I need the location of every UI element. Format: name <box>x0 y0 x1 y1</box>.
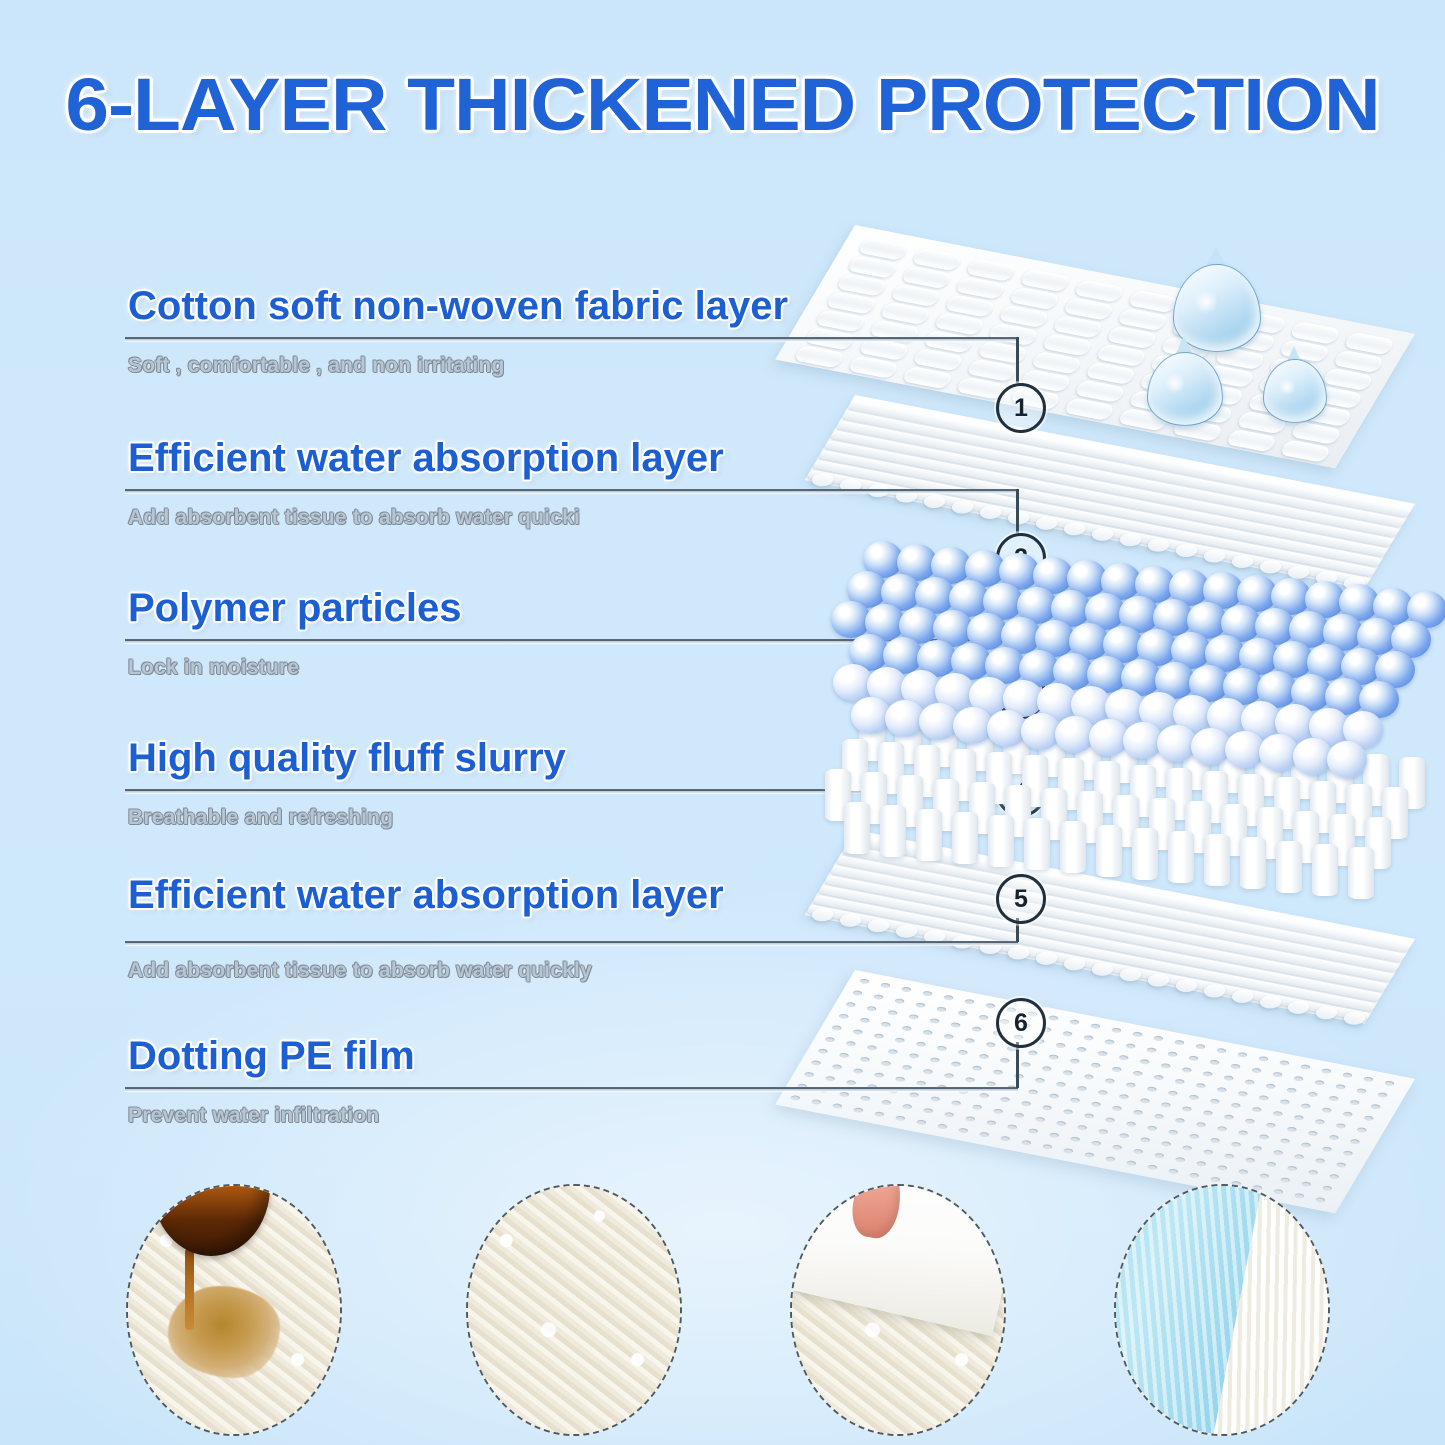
pe-film-perforation <box>1321 1107 1333 1113</box>
water-drop-body <box>1147 352 1223 426</box>
pe-film-perforation <box>1125 1082 1137 1088</box>
pe-film-perforation <box>1174 1039 1186 1045</box>
pe-film-perforation <box>1181 1106 1193 1112</box>
pe-film-perforation <box>1132 1070 1144 1076</box>
pe-film-perforation <box>1223 1075 1235 1081</box>
layer-5-title: Efficient water absorption layer <box>128 873 724 918</box>
fluff-fiber <box>1096 825 1122 877</box>
pe-film-perforation <box>1342 1072 1354 1078</box>
layer-6-rule <box>125 1087 1018 1091</box>
pe-film-perforation <box>1195 1161 1207 1167</box>
pe-film-perforation <box>1027 1089 1039 1095</box>
pe-film-perforation <box>1216 1087 1228 1093</box>
pe-film-perforation <box>1272 1072 1284 1078</box>
water-drop <box>1263 343 1325 431</box>
water-drop-highlight <box>1164 374 1186 393</box>
pe-film-perforation <box>1006 1124 1018 1130</box>
pe-film-perforation <box>957 1049 969 1055</box>
pe-film-perforation <box>901 1104 913 1110</box>
pe-film-perforation <box>894 998 906 1004</box>
pe-film-perforation <box>1083 1074 1095 1080</box>
pe-film-perforation <box>1069 1136 1081 1142</box>
pe-film-perforation <box>859 1056 871 1062</box>
pe-film-perforation <box>1041 1144 1053 1150</box>
pe-film-perforation <box>1062 1070 1074 1076</box>
pe-film-perforation <box>1055 1120 1067 1126</box>
pe-film-perforation <box>859 1017 871 1023</box>
pe-film-perforation <box>1090 1062 1102 1068</box>
pe-film-perforation <box>915 1002 927 1008</box>
pe-film-perforation <box>1244 1079 1256 1085</box>
pe-film-perforation <box>1146 1086 1158 1092</box>
pe-film-perforation <box>1104 1117 1116 1123</box>
pe-film-perforation <box>971 1104 983 1110</box>
pe-film-perforation <box>1041 1066 1053 1072</box>
pe-film-perforation <box>1258 1134 1270 1140</box>
pe-film-perforation <box>831 1025 843 1031</box>
pe-film-perforation <box>1097 1051 1109 1057</box>
pe-film-perforation <box>1335 1084 1347 1090</box>
pe-film-perforation <box>943 1073 955 1079</box>
pe-film-perforation <box>1076 1085 1088 1091</box>
pe-film-perforation <box>1111 1027 1123 1033</box>
pe-film-perforation <box>873 994 885 1000</box>
pe-film-perforation <box>1027 1050 1039 1056</box>
pe-film-perforation <box>1279 1060 1291 1066</box>
pe-film-perforation <box>1083 1152 1095 1158</box>
pe-film-perforation <box>908 1014 920 1020</box>
pe-film-perforation <box>992 1069 1004 1075</box>
pe-film-perforation <box>1230 1063 1242 1069</box>
pe-film-perforation <box>1090 1023 1102 1029</box>
pe-film-perforation <box>894 1037 906 1043</box>
pe-film-perforation <box>1174 1079 1186 1085</box>
pe-film-perforation <box>936 1006 948 1012</box>
layer-1-rule <box>125 337 1018 341</box>
pe-film-perforation <box>1132 1148 1144 1154</box>
pe-film-perforation <box>810 1060 822 1066</box>
pe-film-perforation <box>1090 1101 1102 1107</box>
pe-film-perforation <box>1160 1063 1172 1069</box>
fluff-fiber <box>952 812 978 864</box>
pe-film-perforation <box>957 1127 969 1133</box>
pe-film-perforation <box>922 1069 934 1075</box>
pe-film-perforation <box>852 1068 864 1074</box>
pe-film-perforation <box>1363 1076 1375 1082</box>
water-drop-body <box>1263 359 1327 423</box>
water-drop-highlight <box>1193 291 1219 313</box>
pe-film-perforation <box>1342 1150 1354 1156</box>
pe-film-perforation <box>936 1045 948 1051</box>
pe-film-perforation <box>1153 1113 1165 1119</box>
pe-film-perforation <box>999 1097 1011 1103</box>
pe-film-perforation <box>999 1136 1011 1142</box>
pe-film-perforation <box>929 1057 941 1063</box>
layer-4-title: High quality fluff slurry <box>128 736 566 781</box>
pe-film-perforation <box>1062 1031 1074 1037</box>
pe-film-perforation <box>1097 1129 1109 1135</box>
pe-film-perforation <box>1307 1091 1319 1097</box>
pe-film-perforation <box>1209 1137 1221 1143</box>
pe-film-perforation <box>1251 1106 1263 1112</box>
pe-film-perforation <box>1377 1092 1389 1098</box>
pe-film-perforation <box>1356 1127 1368 1133</box>
pe-film-perforation <box>1328 1095 1340 1101</box>
pe-film-perforation <box>852 990 864 996</box>
pe-film-perforation <box>845 1002 857 1008</box>
pe-film-perforation <box>908 1092 920 1098</box>
pe-film-perforation <box>943 1034 955 1040</box>
pe-film-perforation <box>971 1065 983 1071</box>
photo-liquid-absorption-test <box>126 1184 342 1436</box>
pe-film-perforation <box>985 1003 997 1009</box>
pe-film-perforation <box>950 1100 962 1106</box>
pe-film-perforation <box>1153 1153 1165 1159</box>
pe-film-perforation <box>1146 1125 1158 1131</box>
pe-film-perforation <box>1097 1090 1109 1096</box>
pe-film-perforation <box>873 1072 885 1078</box>
fluff-fiber <box>1348 847 1374 899</box>
pe-film-perforation <box>1104 1156 1116 1162</box>
fluff-fiber <box>1240 837 1266 889</box>
pe-film-perforation <box>1083 1035 1095 1041</box>
layer-1-title: Cotton soft non-woven fabric layer <box>128 284 788 329</box>
water-drops-group <box>855 225 1445 525</box>
pe-film-perforation <box>1328 1174 1340 1180</box>
photo2-background <box>468 1186 680 1434</box>
pe-film-perforation <box>1034 1116 1046 1122</box>
layer-6-title: Dotting PE film <box>128 1034 415 1079</box>
pe-film-perforation <box>1279 1138 1291 1144</box>
layer-1-subtitle: Soft , comfortable , and non irritating <box>128 354 504 378</box>
pe-film-perforation <box>1237 1169 1249 1175</box>
layer-3-subtitle: Lock in moisture <box>128 656 299 680</box>
polymer-bead-grid <box>855 535 1445 755</box>
layer-stack-illustration <box>855 225 1445 1175</box>
pe-film-perforation <box>1146 1047 1158 1053</box>
layer-1-number-badge: 1 <box>996 383 1046 433</box>
pe-film-perforation <box>1125 1043 1137 1049</box>
fluff-fiber <box>1060 821 1086 873</box>
pe-film-perforation <box>1181 1067 1193 1073</box>
pe-film-perforation <box>1069 1097 1081 1103</box>
pe-film-perforation <box>838 1052 850 1058</box>
fluff-fiber <box>988 815 1014 867</box>
pe-film-perforation <box>852 1107 864 1113</box>
pe-film-perforation <box>1160 1141 1172 1147</box>
pe-film-perforation <box>943 995 955 1001</box>
pe-film-perforation <box>1048 1015 1060 1021</box>
pe-film-perforation <box>1237 1091 1249 1097</box>
pe-film-perforation <box>803 1071 815 1077</box>
fluff-fiber <box>916 809 942 861</box>
pe-film-perforation <box>915 1080 927 1086</box>
pe-film-perforation <box>1104 1078 1116 1084</box>
pe-film-perforation <box>936 1123 948 1129</box>
pe-film-perforation <box>1055 1042 1067 1048</box>
pe-film-perforation <box>1244 1118 1256 1124</box>
layer-2-title: Efficient water absorption layer <box>128 436 724 481</box>
pe-film-perforation <box>1272 1150 1284 1156</box>
pe-film-perforation <box>1062 1109 1074 1115</box>
pe-film-perforation <box>1223 1153 1235 1159</box>
pe-film-perforation <box>985 1042 997 1048</box>
pe-film-perforation <box>1237 1130 1249 1136</box>
pe-film-perforation <box>1020 1140 1032 1146</box>
pe-film-perforation <box>1251 1067 1263 1073</box>
water-drop <box>1147 333 1221 435</box>
pe-film-perforation <box>866 1006 878 1012</box>
pe-film-perforation <box>1118 1133 1130 1139</box>
pe-film-perforation <box>1111 1144 1123 1150</box>
layer-1-connector <box>1016 337 1019 383</box>
pe-film-perforation <box>901 986 913 992</box>
pe-film-perforation <box>894 1115 906 1121</box>
fluff-fiber <box>1024 818 1050 870</box>
pe-film-perforation <box>1265 1122 1277 1128</box>
pe-film-perforation <box>908 1053 920 1059</box>
pe-film-perforation <box>845 1041 857 1047</box>
pe-film-perforation <box>1174 1118 1186 1124</box>
layer-5-number-badge: 5 <box>996 874 1046 924</box>
fluff-fiber <box>1168 831 1194 883</box>
layer-5-subtitle: Add absorbent tissue to absorb water qui… <box>128 959 592 983</box>
pe-film-perforation <box>1349 1100 1361 1106</box>
pe-film-perforation <box>1307 1169 1319 1175</box>
pe-film-perforation <box>1286 1087 1298 1093</box>
pe-film-perforation <box>1258 1056 1270 1062</box>
pe-film-perforation <box>922 990 934 996</box>
pe-film-perforation <box>1083 1113 1095 1119</box>
pe-film-perforation <box>1293 1154 1305 1160</box>
pe-film-perforation <box>1048 1054 1060 1060</box>
pe-film-perforation <box>1216 1126 1228 1132</box>
pe-film-perforation <box>831 1103 843 1109</box>
pe-film-perforation <box>957 1010 969 1016</box>
pe-film-perforation <box>1048 1132 1060 1138</box>
pe-film-perforation <box>1202 1110 1214 1116</box>
pe-film-perforation <box>880 982 892 988</box>
pe-film-perforation <box>1293 1115 1305 1121</box>
pe-film-perforation <box>1209 1059 1221 1065</box>
fluff-fiber <box>844 802 870 854</box>
pe-film-perforation <box>1328 1134 1340 1140</box>
pe-film-perforation <box>1111 1066 1123 1072</box>
layer-2-subtitle: Add absorbent tissue to absorb water qui… <box>128 506 580 530</box>
pe-film-perforation <box>1209 1176 1221 1182</box>
pe-film-perforation <box>1139 1059 1151 1065</box>
pe-film-perforation <box>1314 1080 1326 1086</box>
pe-film-perforation <box>978 1132 990 1138</box>
pe-film-perforation <box>1265 1161 1277 1167</box>
pe-film-perforation <box>1209 1098 1221 1104</box>
layer-2-rule <box>125 489 1018 493</box>
fluff-fiber <box>1132 828 1158 880</box>
pe-film-perforation <box>873 1033 885 1039</box>
pe-film-perforation <box>1335 1123 1347 1129</box>
pe-film-perforation <box>1139 1137 1151 1143</box>
pe-film-perforation <box>929 1018 941 1024</box>
pe-film-perforation <box>845 1080 857 1086</box>
pe-film-perforation <box>1195 1122 1207 1128</box>
pe-film-perforation <box>1300 1103 1312 1109</box>
layer-6-connector <box>1016 1042 1019 1088</box>
layer-2-connector <box>1016 489 1019 533</box>
pe-film-perforation <box>852 1029 864 1035</box>
fluff-fiber <box>880 805 906 857</box>
pe-film-perforation <box>1286 1165 1298 1171</box>
pe-film-perforation <box>964 999 976 1005</box>
pe-film-perforation <box>1258 1095 1270 1101</box>
pe-film-perforation <box>1167 1090 1179 1096</box>
pe-film-perforation <box>1153 1074 1165 1080</box>
layer-4-subtitle: Breathable and refreshing <box>128 806 393 830</box>
pe-film-perforation <box>859 978 871 984</box>
pe-film-perforation <box>1335 1162 1347 1168</box>
pe-film-perforation <box>838 1091 850 1097</box>
pe-film-perforation <box>1090 1140 1102 1146</box>
pe-film-perforation <box>1244 1157 1256 1163</box>
pe-film-perforation <box>1013 1112 1025 1118</box>
pe-film-perforation <box>964 1116 976 1122</box>
pe-film-perforation <box>1167 1129 1179 1135</box>
pe-film-perforation <box>880 1099 892 1105</box>
pe-film-perforation <box>873 1111 885 1117</box>
fluff-fiber <box>1276 841 1302 893</box>
pe-film-perforation <box>789 1095 801 1101</box>
pe-film-perforation <box>978 1092 990 1098</box>
layer-5-rule <box>125 941 1018 945</box>
pe-film-perforation <box>1195 1044 1207 1050</box>
pe-film-perforation <box>1146 1164 1158 1170</box>
pe-film-perforation <box>1111 1105 1123 1111</box>
infographic-page: 6-LAYER THICKENED PROTECTION <box>0 0 1445 1445</box>
pe-film-perforation <box>964 1077 976 1083</box>
pe-film-perforation <box>1356 1088 1368 1094</box>
pe-film-perforation <box>817 1048 829 1054</box>
pe-film-perforation <box>824 1037 836 1043</box>
pe-film-perforation <box>922 1030 934 1036</box>
pe-film-perforation <box>929 1096 941 1102</box>
pe-film-perforation <box>1104 1039 1116 1045</box>
pe-film-perforation <box>1188 1133 1200 1139</box>
pe-film-perforation <box>887 1049 899 1055</box>
water-drop-highlight <box>1278 379 1297 395</box>
pe-film-perforation <box>1349 1139 1361 1145</box>
pe-film-perforation <box>971 1026 983 1032</box>
pe-film-perforation <box>866 1045 878 1051</box>
layer-6-number-badge: 6 <box>996 998 1046 1048</box>
pe-film-perforation <box>1307 1130 1319 1136</box>
pe-film-perforation <box>831 1064 843 1070</box>
pe-film-perforation <box>1069 1019 1081 1025</box>
pe-film-perforation <box>922 1108 934 1114</box>
pe-film-perforation <box>1321 1146 1333 1152</box>
pe-film-perforation <box>1188 1055 1200 1061</box>
pe-film-perforation <box>1384 1080 1396 1086</box>
pe-film-perforation <box>1118 1094 1130 1100</box>
pe-film-perforation <box>1279 1177 1291 1183</box>
pe-film-perforation <box>1188 1094 1200 1100</box>
pe-film-perforation <box>1202 1149 1214 1155</box>
pe-film-perforation <box>1034 1077 1046 1083</box>
photo-dry-fluff-surface <box>466 1184 682 1436</box>
pe-film-perforation <box>894 1076 906 1082</box>
pe-film-perforation <box>1132 1109 1144 1115</box>
pe-film-perforation <box>880 1060 892 1066</box>
pe-film-perforation <box>1153 1035 1165 1041</box>
pe-film-perforation <box>887 1010 899 1016</box>
pe-film-perforation <box>1195 1083 1207 1089</box>
pe-film-perforation <box>810 1099 822 1105</box>
pe-film-perforation <box>1062 1148 1074 1154</box>
pe-film-perforation <box>1216 1165 1228 1171</box>
pe-film-perforation <box>1132 1031 1144 1037</box>
page-title: 6-LAYER THICKENED PROTECTION <box>0 62 1445 147</box>
layer-6-subtitle: Prevent water infiltration <box>128 1104 379 1128</box>
pe-film-perforation <box>985 1120 997 1126</box>
pe-film-perforation <box>1160 1102 1172 1108</box>
pe-film-perforation <box>838 1013 850 1019</box>
pe-film-perforation <box>950 1061 962 1067</box>
pe-film-perforation <box>824 1076 836 1082</box>
pe-film-perforation <box>1314 1119 1326 1125</box>
layer-3-title: Polymer particles <box>128 586 462 631</box>
pe-film-perforation <box>1167 1051 1179 1057</box>
pe-film-perforation <box>950 1022 962 1028</box>
pe-film-perforation <box>978 1014 990 1020</box>
pe-film-perforation <box>978 1053 990 1059</box>
pe-film-perforation <box>1286 1126 1298 1132</box>
photo-blue-backing-edge <box>1114 1184 1330 1436</box>
pe-film-perforation <box>1223 1114 1235 1120</box>
pe-film-perforation <box>1230 1141 1242 1147</box>
pe-film-perforation <box>1055 1081 1067 1087</box>
pe-film-perforation <box>1069 1058 1081 1064</box>
pe-film-perforation <box>1272 1111 1284 1117</box>
photo1-pour-stream <box>185 1248 194 1330</box>
pe-film-perforation <box>1048 1093 1060 1099</box>
pe-film-perforation <box>999 1058 1011 1064</box>
pe-film-perforation <box>964 1038 976 1044</box>
pe-film-perforation <box>1125 1121 1137 1127</box>
pe-film-perforation <box>1265 1083 1277 1089</box>
pe-film-perforation <box>1139 1098 1151 1104</box>
pe-film-perforation <box>1300 1064 1312 1070</box>
pe-film-perforation <box>901 1025 913 1031</box>
pe-film-perforation <box>1258 1173 1270 1179</box>
pe-film-perforation <box>1118 1055 1130 1061</box>
pe-film-perforation <box>1020 1101 1032 1107</box>
pe-film-perforation <box>1314 1158 1326 1164</box>
pe-film-perforation <box>1363 1115 1375 1121</box>
pe-film-perforation <box>1370 1104 1382 1110</box>
pe-film-perforation <box>901 1064 913 1070</box>
fluff-fiber <box>1204 834 1230 886</box>
pe-film-perforation <box>1230 1102 1242 1108</box>
photo-finger-lifting-pad <box>790 1184 1006 1436</box>
pe-film-perforation <box>915 1041 927 1047</box>
pe-film-perforation <box>1279 1099 1291 1105</box>
pe-film-perforation <box>880 1021 892 1027</box>
pe-film-perforation <box>1251 1146 1263 1152</box>
pe-film-perforation <box>1216 1048 1228 1054</box>
pe-film-perforation <box>1020 1062 1032 1068</box>
pe-film-perforation <box>1293 1076 1305 1082</box>
pe-film-perforation <box>1174 1157 1186 1163</box>
pe-film-perforation <box>1237 1052 1249 1058</box>
pe-film-perforation <box>1167 1168 1179 1174</box>
